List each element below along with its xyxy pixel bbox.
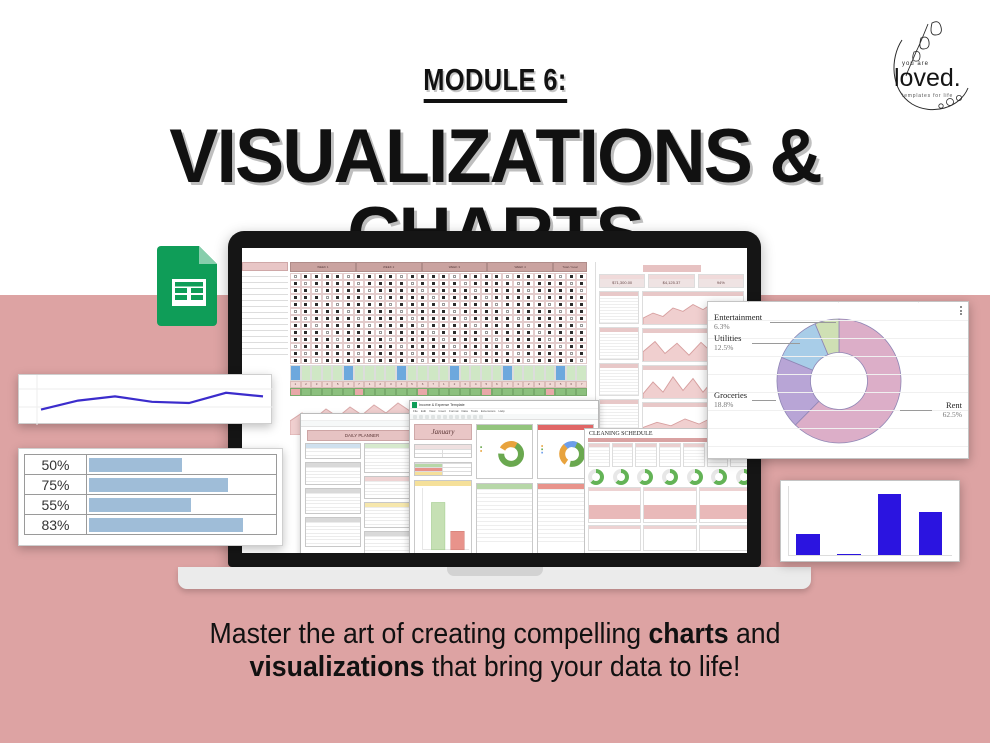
habit-cell[interactable] <box>354 308 365 315</box>
habit-cell[interactable] <box>555 350 566 357</box>
habit-cell[interactable] <box>290 301 301 308</box>
habit-cell[interactable] <box>492 315 503 322</box>
habit-cell[interactable] <box>385 308 396 315</box>
habit-cell[interactable] <box>311 357 322 364</box>
habit-cell[interactable] <box>566 301 577 308</box>
habit-icon-cell[interactable] <box>460 365 471 381</box>
habit-cell[interactable] <box>534 280 545 287</box>
habit-icon-cell[interactable] <box>470 365 481 381</box>
habit-cell[interactable] <box>545 336 556 343</box>
habit-cell[interactable] <box>375 280 386 287</box>
habit-cell[interactable] <box>555 273 566 280</box>
habit-cell[interactable] <box>354 301 365 308</box>
habit-cell[interactable] <box>513 308 524 315</box>
habit-row[interactable] <box>290 294 587 301</box>
habit-cell[interactable] <box>354 343 365 350</box>
habit-cell[interactable] <box>375 322 386 329</box>
habit-cell[interactable] <box>492 329 503 336</box>
habit-cell[interactable] <box>555 315 566 322</box>
habit-cell[interactable] <box>545 357 556 364</box>
habit-cell[interactable] <box>417 308 428 315</box>
ie-menu-item[interactable]: Data <box>462 409 468 414</box>
habit-cell[interactable] <box>375 301 386 308</box>
habit-cell[interactable] <box>449 294 460 301</box>
habit-cell[interactable] <box>332 308 343 315</box>
habit-cell[interactable] <box>449 322 460 329</box>
habit-cell[interactable] <box>417 273 428 280</box>
habit-cell[interactable] <box>322 273 333 280</box>
habit-cell[interactable] <box>396 294 407 301</box>
habit-cell[interactable] <box>545 343 556 350</box>
habit-cell[interactable] <box>396 336 407 343</box>
habit-cell[interactable] <box>407 329 418 336</box>
habit-cell[interactable] <box>332 350 343 357</box>
habit-cell[interactable] <box>396 308 407 315</box>
habit-row[interactable] <box>290 315 587 322</box>
habit-cell[interactable] <box>460 308 471 315</box>
habit-cell[interactable] <box>364 294 375 301</box>
habit-cell[interactable] <box>470 357 481 364</box>
habit-cell[interactable] <box>460 301 471 308</box>
habit-cell[interactable] <box>513 315 524 322</box>
habit-cell[interactable] <box>311 315 322 322</box>
habit-cell[interactable] <box>311 322 322 329</box>
ie-menu-item[interactable]: Help <box>499 409 505 414</box>
habit-cell[interactable] <box>375 329 386 336</box>
habit-cell[interactable] <box>492 322 503 329</box>
habit-cell[interactable] <box>417 357 428 364</box>
habit-cell[interactable] <box>502 343 513 350</box>
habit-row[interactable] <box>290 301 587 308</box>
habit-icon-cell[interactable] <box>576 365 587 381</box>
habit-cell[interactable] <box>534 322 545 329</box>
habit-cell[interactable] <box>343 357 354 364</box>
habit-cell[interactable] <box>311 308 322 315</box>
habit-row[interactable] <box>290 308 587 315</box>
habit-cell[interactable] <box>470 350 481 357</box>
habit-cell[interactable] <box>332 357 343 364</box>
habit-cell[interactable] <box>311 301 322 308</box>
habit-cell[interactable] <box>322 294 333 301</box>
habit-cell[interactable] <box>354 315 365 322</box>
habit-cell[interactable] <box>470 336 481 343</box>
habit-cell[interactable] <box>555 336 566 343</box>
habit-icon-cell[interactable] <box>534 365 545 381</box>
habit-cell[interactable] <box>555 357 566 364</box>
habit-cell[interactable] <box>375 350 386 357</box>
habit-cell[interactable] <box>439 329 450 336</box>
habit-cell[interactable] <box>311 287 322 294</box>
habit-cell[interactable] <box>311 336 322 343</box>
habit-cell[interactable] <box>566 350 577 357</box>
habit-cell[interactable] <box>375 287 386 294</box>
habit-cell[interactable] <box>332 273 343 280</box>
habit-cell[interactable] <box>417 315 428 322</box>
habit-cell[interactable] <box>301 329 312 336</box>
habit-cell[interactable] <box>439 294 450 301</box>
cleaning-day-column[interactable] <box>635 443 657 467</box>
habit-cell[interactable] <box>364 280 375 287</box>
habit-cell[interactable] <box>502 315 513 322</box>
habit-cell[interactable] <box>460 273 471 280</box>
habit-cell[interactable] <box>460 357 471 364</box>
habit-cell[interactable] <box>523 308 534 315</box>
habit-cell[interactable] <box>290 343 301 350</box>
habit-cell[interactable] <box>555 280 566 287</box>
habit-cell[interactable] <box>492 287 503 294</box>
habit-cell[interactable] <box>311 294 322 301</box>
habit-cell[interactable] <box>375 294 386 301</box>
habit-cell[interactable] <box>470 329 481 336</box>
habit-cell[interactable] <box>545 287 556 294</box>
habit-cell[interactable] <box>576 329 587 336</box>
habit-cell[interactable] <box>460 329 471 336</box>
habit-cell[interactable] <box>470 273 481 280</box>
habit-cell[interactable] <box>439 357 450 364</box>
habit-cell[interactable] <box>290 329 301 336</box>
habit-cell[interactable] <box>396 357 407 364</box>
habit-cell[interactable] <box>470 322 481 329</box>
habit-cell[interactable] <box>343 329 354 336</box>
habit-cell[interactable] <box>576 308 587 315</box>
habit-cell[interactable] <box>354 329 365 336</box>
habit-icon-cell[interactable] <box>311 365 322 381</box>
daily-planner-card[interactable] <box>305 488 361 514</box>
habit-cell[interactable] <box>364 336 375 343</box>
habit-cell[interactable] <box>513 273 524 280</box>
habit-cell[interactable] <box>534 294 545 301</box>
habit-cell[interactable] <box>375 308 386 315</box>
habit-cell[interactable] <box>322 287 333 294</box>
habit-cell[interactable] <box>470 280 481 287</box>
habit-cell[interactable] <box>449 308 460 315</box>
habit-cell[interactable] <box>481 273 492 280</box>
habit-cell[interactable] <box>322 329 333 336</box>
habit-cell[interactable] <box>492 301 503 308</box>
habit-cell[interactable] <box>449 350 460 357</box>
habit-cell[interactable] <box>301 322 312 329</box>
habit-cell[interactable] <box>364 315 375 322</box>
habit-cell[interactable] <box>449 329 460 336</box>
habit-cell[interactable] <box>354 350 365 357</box>
habit-cell[interactable] <box>576 315 587 322</box>
habit-cell[interactable] <box>417 301 428 308</box>
habit-cell[interactable] <box>513 280 524 287</box>
habit-cell[interactable] <box>364 343 375 350</box>
habit-cell[interactable] <box>566 287 577 294</box>
habit-icon-cell[interactable] <box>290 365 301 381</box>
habit-cell[interactable] <box>545 350 556 357</box>
habit-cell[interactable] <box>523 287 534 294</box>
habit-cell[interactable] <box>449 315 460 322</box>
habit-cell[interactable] <box>301 301 312 308</box>
habit-cell[interactable] <box>576 336 587 343</box>
cleaning-day-column[interactable] <box>588 443 610 467</box>
habit-cell[interactable] <box>301 308 312 315</box>
habit-cell[interactable] <box>534 350 545 357</box>
habit-cell[interactable] <box>481 315 492 322</box>
habit-cell[interactable] <box>566 294 577 301</box>
habit-cell[interactable] <box>396 315 407 322</box>
habit-cell[interactable] <box>396 287 407 294</box>
habit-cell[interactable] <box>332 280 343 287</box>
habit-cell[interactable] <box>407 287 418 294</box>
habit-cell[interactable] <box>513 287 524 294</box>
habit-cell[interactable] <box>566 273 577 280</box>
habit-cell[interactable] <box>513 350 524 357</box>
habit-cell[interactable] <box>290 273 301 280</box>
habit-cell[interactable] <box>322 357 333 364</box>
habit-cell[interactable] <box>322 322 333 329</box>
habit-cell[interactable] <box>407 294 418 301</box>
habit-cell[interactable] <box>354 336 365 343</box>
daily-planner-card[interactable] <box>305 462 361 485</box>
habit-cell[interactable] <box>555 287 566 294</box>
habit-cell[interactable] <box>301 294 312 301</box>
habit-cell[interactable] <box>460 343 471 350</box>
habit-cell[interactable] <box>470 301 481 308</box>
habit-cell[interactable] <box>502 329 513 336</box>
habit-cell[interactable] <box>385 350 396 357</box>
habit-cell[interactable] <box>417 336 428 343</box>
habit-cell[interactable] <box>576 357 587 364</box>
daily-planner-card[interactable] <box>305 443 361 459</box>
cleaning-day-column[interactable] <box>612 443 634 467</box>
habit-cell[interactable] <box>301 357 312 364</box>
habit-cell[interactable] <box>470 315 481 322</box>
habit-row[interactable] <box>290 350 587 357</box>
habit-cell[interactable] <box>364 322 375 329</box>
habit-cell[interactable] <box>470 287 481 294</box>
habit-cell[interactable] <box>407 322 418 329</box>
habit-icon-cell[interactable] <box>481 365 492 381</box>
daily-planner-window[interactable]: DAILY PLANNER <box>300 413 424 553</box>
habit-cell[interactable] <box>555 294 566 301</box>
habit-cell[interactable] <box>322 280 333 287</box>
habit-cell[interactable] <box>534 336 545 343</box>
daily-planner-card[interactable] <box>305 517 361 547</box>
habit-cell[interactable] <box>481 336 492 343</box>
habit-icon-cell[interactable] <box>566 365 577 381</box>
habit-icon-cell[interactable] <box>513 365 524 381</box>
habit-cell[interactable] <box>301 350 312 357</box>
habit-cell[interactable] <box>492 273 503 280</box>
habit-cell[interactable] <box>364 301 375 308</box>
habit-cell[interactable] <box>460 280 471 287</box>
habit-cell[interactable] <box>332 336 343 343</box>
habit-cell[interactable] <box>481 301 492 308</box>
habit-cell[interactable] <box>428 280 439 287</box>
habit-icon-cell[interactable] <box>449 365 460 381</box>
habit-cell[interactable] <box>311 273 322 280</box>
habit-row[interactable] <box>290 280 587 287</box>
habit-cell[interactable] <box>576 273 587 280</box>
habit-cell[interactable] <box>332 329 343 336</box>
habit-cell[interactable] <box>428 357 439 364</box>
habit-icon-cell[interactable] <box>439 365 450 381</box>
habit-cell[interactable] <box>555 308 566 315</box>
habit-cell[interactable] <box>555 301 566 308</box>
habit-cell[interactable] <box>332 287 343 294</box>
habit-cell[interactable] <box>407 336 418 343</box>
habit-cell[interactable] <box>428 308 439 315</box>
habit-cell[interactable] <box>502 357 513 364</box>
habit-cell[interactable] <box>460 287 471 294</box>
habit-cell[interactable] <box>354 357 365 364</box>
habit-cell[interactable] <box>576 350 587 357</box>
habit-icon-cell[interactable] <box>428 365 439 381</box>
habit-cell[interactable] <box>343 343 354 350</box>
habit-cell[interactable] <box>566 280 577 287</box>
habit-cell[interactable] <box>460 336 471 343</box>
habit-cell[interactable] <box>534 315 545 322</box>
habit-cell[interactable] <box>385 273 396 280</box>
habit-icon-cell[interactable] <box>354 365 365 381</box>
habit-cell[interactable] <box>290 280 301 287</box>
habit-cell[interactable] <box>428 301 439 308</box>
habit-cell[interactable] <box>417 350 428 357</box>
habit-cell[interactable] <box>576 301 587 308</box>
habit-cell[interactable] <box>523 336 534 343</box>
habit-cell[interactable] <box>523 294 534 301</box>
habit-cell[interactable] <box>513 294 524 301</box>
habit-cell[interactable] <box>428 343 439 350</box>
habit-cell[interactable] <box>439 336 450 343</box>
habit-cell[interactable] <box>481 322 492 329</box>
habit-cell[interactable] <box>523 301 534 308</box>
habit-cell[interactable] <box>290 287 301 294</box>
habit-cell[interactable] <box>396 322 407 329</box>
habit-icon-cell[interactable] <box>417 365 428 381</box>
habit-cell[interactable] <box>385 336 396 343</box>
habit-cell[interactable] <box>576 343 587 350</box>
habit-cell[interactable] <box>523 273 534 280</box>
habit-cell[interactable] <box>375 273 386 280</box>
habit-cell[interactable] <box>502 308 513 315</box>
habit-row[interactable] <box>290 357 587 364</box>
habit-cell[interactable] <box>523 322 534 329</box>
ie-menu-item[interactable]: Tools <box>471 409 478 414</box>
habit-cell[interactable] <box>481 357 492 364</box>
habit-icon-cell[interactable] <box>385 365 396 381</box>
habit-cell[interactable] <box>502 336 513 343</box>
expense-breakdown-donut-card[interactable]: Entertainment 6.3% Utilities 12.5% Groce… <box>707 301 969 459</box>
ie-menu-item[interactable]: File <box>413 409 418 414</box>
habit-cell[interactable] <box>311 343 322 350</box>
habit-cell[interactable] <box>407 343 418 350</box>
habit-cell[interactable] <box>534 329 545 336</box>
habit-cell[interactable] <box>407 273 418 280</box>
habit-cell[interactable] <box>364 357 375 364</box>
habit-cell[interactable] <box>545 273 556 280</box>
habit-cell[interactable] <box>566 322 577 329</box>
habit-cell[interactable] <box>460 315 471 322</box>
habit-cell[interactable] <box>417 280 428 287</box>
habit-cell[interactable] <box>385 357 396 364</box>
habit-cell[interactable] <box>523 329 534 336</box>
habit-cell[interactable] <box>481 287 492 294</box>
habit-cell[interactable] <box>449 287 460 294</box>
habit-cell[interactable] <box>492 294 503 301</box>
habit-cell[interactable] <box>417 287 428 294</box>
habit-cell[interactable] <box>534 287 545 294</box>
habit-cell[interactable] <box>555 343 566 350</box>
habit-cell[interactable] <box>576 322 587 329</box>
habit-row[interactable] <box>290 287 587 294</box>
habit-cell[interactable] <box>385 301 396 308</box>
habit-cell[interactable] <box>545 301 556 308</box>
habit-icon-cell[interactable] <box>301 365 312 381</box>
habit-cell[interactable] <box>449 301 460 308</box>
habit-cell[interactable] <box>481 343 492 350</box>
habit-cell[interactable] <box>513 336 524 343</box>
habit-cell[interactable] <box>449 357 460 364</box>
habit-cell[interactable] <box>385 280 396 287</box>
habit-cell[interactable] <box>290 350 301 357</box>
habit-cell[interactable] <box>566 329 577 336</box>
ie-menu-item[interactable]: Format <box>449 409 459 414</box>
habit-cell[interactable] <box>439 350 450 357</box>
habit-cell[interactable] <box>407 280 418 287</box>
habit-row[interactable] <box>290 336 587 343</box>
habit-cell[interactable] <box>407 301 418 308</box>
habit-cell[interactable] <box>439 280 450 287</box>
habit-cell[interactable] <box>407 315 418 322</box>
habit-cell[interactable] <box>523 350 534 357</box>
habit-cell[interactable] <box>502 350 513 357</box>
habit-cell[interactable] <box>428 287 439 294</box>
habit-icon-cell[interactable] <box>545 365 556 381</box>
habit-cell[interactable] <box>439 322 450 329</box>
habit-cell[interactable] <box>449 280 460 287</box>
habit-cell[interactable] <box>343 287 354 294</box>
ie-menu-item[interactable]: View <box>429 409 435 414</box>
habit-cell[interactable] <box>290 315 301 322</box>
habit-cell[interactable] <box>502 301 513 308</box>
habit-cell[interactable] <box>396 343 407 350</box>
habit-cell[interactable] <box>470 308 481 315</box>
habit-cell[interactable] <box>460 350 471 357</box>
habit-cell[interactable] <box>311 329 322 336</box>
habit-cell[interactable] <box>385 343 396 350</box>
habit-cell[interactable] <box>449 273 460 280</box>
habit-cell[interactable] <box>428 315 439 322</box>
habit-cell[interactable] <box>534 273 545 280</box>
habit-cell[interactable] <box>481 329 492 336</box>
habit-cell[interactable] <box>534 301 545 308</box>
habit-cell[interactable] <box>343 336 354 343</box>
ie-menu-item[interactable]: Edit <box>421 409 426 414</box>
habit-cell[interactable] <box>364 273 375 280</box>
habit-cell[interactable] <box>322 336 333 343</box>
habit-cell[interactable] <box>428 350 439 357</box>
habit-cell[interactable] <box>396 350 407 357</box>
ie-menu-item[interactable]: Insert <box>438 409 446 414</box>
habit-cell[interactable] <box>502 294 513 301</box>
habit-cell[interactable] <box>428 336 439 343</box>
habit-cell[interactable] <box>470 343 481 350</box>
habit-cell[interactable] <box>513 322 524 329</box>
habit-cell[interactable] <box>417 343 428 350</box>
habit-row[interactable] <box>290 329 587 336</box>
habit-cell[interactable] <box>576 287 587 294</box>
habit-cell[interactable] <box>439 315 450 322</box>
habit-cell[interactable] <box>439 287 450 294</box>
habit-icon-cell[interactable] <box>523 365 534 381</box>
habit-cell[interactable] <box>566 336 577 343</box>
habit-cell[interactable] <box>375 357 386 364</box>
habit-cell[interactable] <box>513 329 524 336</box>
